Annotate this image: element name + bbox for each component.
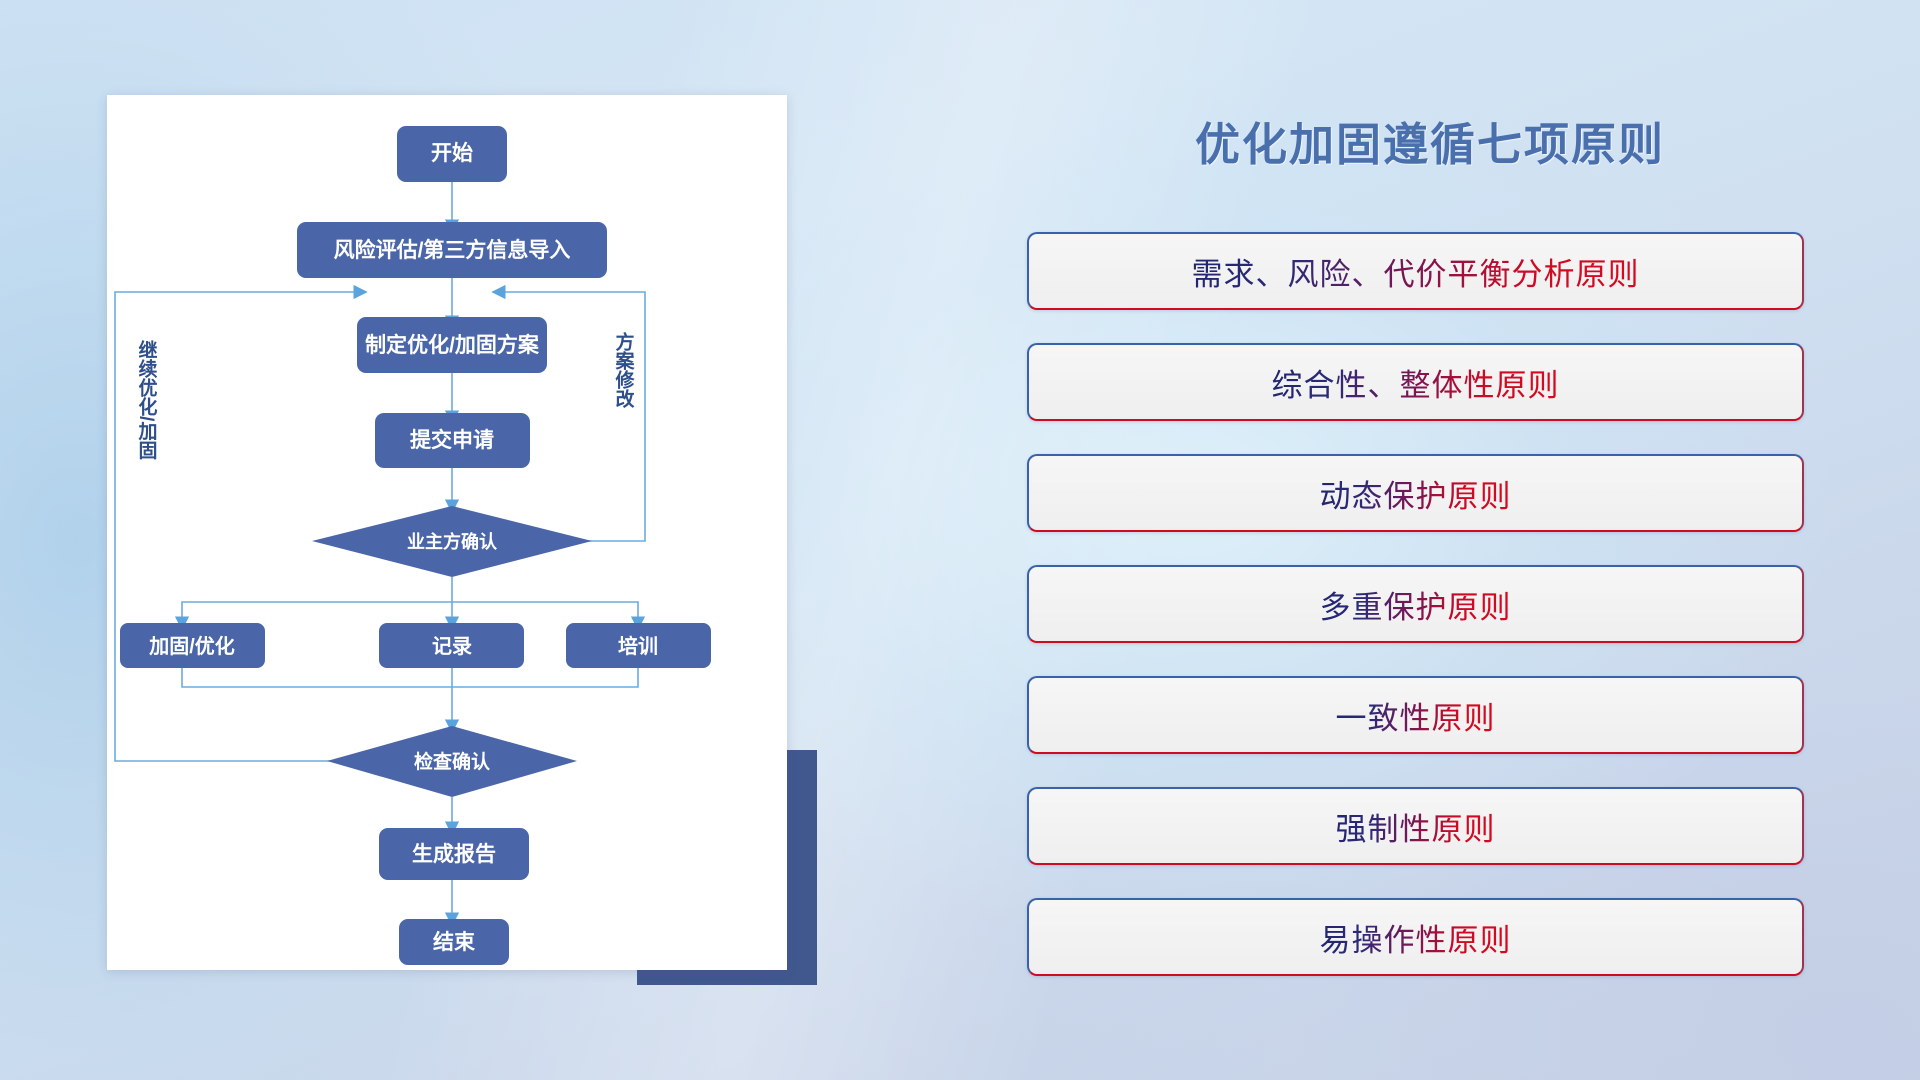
node-check-confirm[interactable]: 检查确认 <box>327 726 577 797</box>
node-check-confirm-label: 检查确认 <box>414 750 490 773</box>
principle-label: 易操作性原则 <box>1320 915 1512 960</box>
node-plan-label: 制定优化/加固方案 <box>365 333 540 357</box>
principle-card[interactable]: 多重保护原则 <box>1027 565 1804 643</box>
principle-label: 多重保护原则 <box>1320 582 1512 627</box>
flowchart-svg: 开始 风险评估/第三方信息导入 制定优化/加固方案 提交申请 业主方确认 <box>107 95 787 970</box>
node-reinforce-label: 加固/优化 <box>148 634 235 658</box>
node-training-label: 培训 <box>618 634 658 658</box>
node-end-label: 结束 <box>433 930 476 954</box>
node-assess-label: 风险评估/第三方信息导入 <box>334 238 571 262</box>
principle-card[interactable]: 需求、风险、代价平衡分析原则 <box>1027 232 1804 310</box>
slide-canvas: 开始 风险评估/第三方信息导入 制定优化/加固方案 提交申请 业主方确认 <box>0 0 1920 1080</box>
flowchart-card: 开始 风险评估/第三方信息导入 制定优化/加固方案 提交申请 业主方确认 <box>107 95 787 970</box>
principle-card[interactable]: 易操作性原则 <box>1027 898 1804 976</box>
node-owner-confirm[interactable]: 业主方确认 <box>312 506 592 577</box>
principle-label: 需求、风险、代价平衡分析原则 <box>1192 249 1640 294</box>
principle-card[interactable]: 动态保护原则 <box>1027 454 1804 532</box>
principle-label: 强制性原则 <box>1336 804 1496 849</box>
edge-label-revise: 方案修改 <box>613 331 636 409</box>
edge-owner-reinforce <box>182 602 452 623</box>
node-start-label: 开始 <box>431 141 473 165</box>
node-record-label: 记录 <box>432 635 472 658</box>
principle-label: 综合性、整体性原则 <box>1272 360 1560 405</box>
principle-label: 动态保护原则 <box>1320 471 1512 516</box>
principle-card[interactable]: 强制性原则 <box>1027 787 1804 865</box>
principle-card[interactable]: 综合性、整体性原则 <box>1027 343 1804 421</box>
node-submit-label: 提交申请 <box>410 428 494 452</box>
edge-owner-training <box>452 602 638 623</box>
node-plan[interactable]: 制定优化/加固方案 <box>357 266 547 373</box>
node-start[interactable]: 开始 <box>397 126 507 182</box>
principle-label: 一致性原则 <box>1336 693 1496 738</box>
node-owner-confirm-label: 业主方确认 <box>407 531 498 552</box>
node-submit[interactable]: 提交申请 <box>375 413 530 468</box>
node-end[interactable]: 结束 <box>399 919 509 965</box>
principles-list: 需求、风险、代价平衡分析原则 综合性、整体性原则 动态保护原则 多重保护原则 一… <box>1027 232 1804 976</box>
node-report[interactable]: 生成报告 <box>379 828 529 880</box>
node-report-label: 生成报告 <box>412 842 496 866</box>
edge-label-continue: 继续优化/加固 <box>136 339 159 460</box>
node-record[interactable]: 记录 <box>379 623 524 668</box>
page-title: 优化加固遵循七项原则 <box>1030 108 1830 173</box>
principle-card[interactable]: 一致性原则 <box>1027 676 1804 754</box>
node-reinforce[interactable]: 加固/优化 <box>120 623 265 668</box>
node-training[interactable]: 培训 <box>566 623 711 668</box>
